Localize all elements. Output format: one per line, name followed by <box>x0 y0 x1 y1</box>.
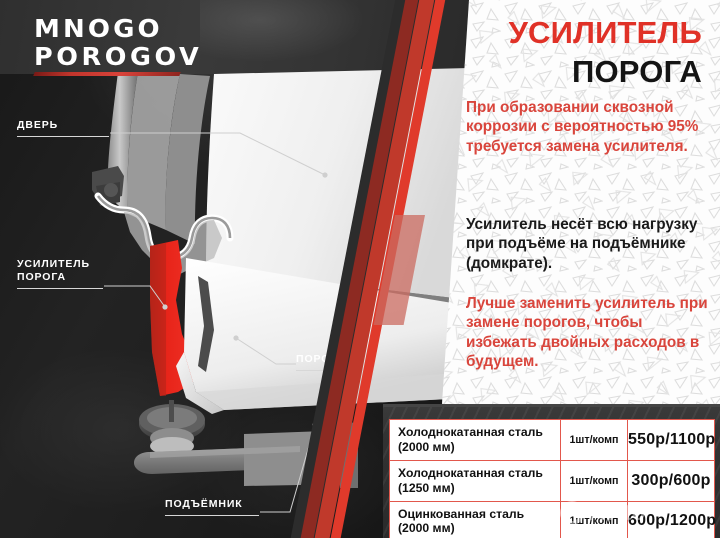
callout-door-rule <box>17 136 109 137</box>
brand-logo: MNOGO POROGOV <box>34 16 199 76</box>
promo-banner: ДВЕРЬ УСИЛИТЕЛЬ ПОРОГА ПОРОГ ПОДЪЁМНИК M… <box>0 0 720 538</box>
product-name-line1: Холоднокатанная сталь <box>398 425 553 440</box>
table-cell-qty: 1шт/комп <box>561 502 628 538</box>
table-cell-qty: 1шт/комп <box>561 461 628 501</box>
price-table: Холоднокатанная сталь (2000 мм) 1шт/комп… <box>389 419 715 538</box>
table-cell-name: Холоднокатанная сталь (2000 мм) <box>390 420 561 460</box>
table-row[interactable]: Оцинкованная сталь (2000 мм) 1шт/комп 60… <box>390 502 714 538</box>
table-cell-price: 550р/1100р <box>628 420 715 460</box>
table-cell-name: Холоднокатанная сталь (1250 мм) <box>390 461 561 501</box>
brand-logo-line1: MNOGO <box>34 16 206 41</box>
product-name-line2: (1250 мм) <box>398 481 553 496</box>
table-cell-price: 600р/1200р <box>628 502 716 538</box>
callout-lift-rule <box>165 515 259 516</box>
paragraph-load: Усилитель несёт всю нагрузку при подъёме… <box>466 215 712 273</box>
callout-amplifier: УСИЛИТЕЛЬ ПОРОГА <box>17 258 99 289</box>
table-cell-price: 300р/600р <box>628 461 714 501</box>
table-row[interactable]: Холоднокатанная сталь (2000 мм) 1шт/комп… <box>390 420 714 461</box>
product-name-line1: Оцинкованная сталь <box>398 507 553 522</box>
callout-door-label: ДВЕРЬ <box>17 119 109 132</box>
callout-amplifier-label-1: УСИЛИТЕЛЬ <box>17 258 99 271</box>
table-cell-qty: 1шт/комп <box>561 420 628 460</box>
callout-amplifier-label-2: ПОРОГА <box>17 271 99 284</box>
callout-lift-label: ПОДЪЁМНИК <box>165 498 259 511</box>
brand-logo-line2: POROGOV <box>34 44 202 69</box>
callout-lift: ПОДЪЁМНИК <box>165 498 259 516</box>
door-panel <box>206 68 470 300</box>
product-name-line2: (2000 мм) <box>398 521 553 536</box>
page-title: УСИЛИТЕЛЬ ПОРОГА <box>509 17 702 87</box>
table-cell-name: Оцинкованная сталь (2000 мм) <box>390 502 561 538</box>
page-title-line1: УСИЛИТЕЛЬ <box>509 17 702 48</box>
paragraph-advice: Лучше заменить усилитель при замене поро… <box>466 294 712 371</box>
product-name-line1: Холоднокатанная сталь <box>398 466 553 481</box>
paragraph-corrosion: При образовании сквозной коррозии с веро… <box>466 98 712 156</box>
brand-logo-underline <box>33 72 181 76</box>
table-row[interactable]: Холоднокатанная сталь (1250 мм) 1шт/комп… <box>390 461 714 502</box>
callout-amplifier-rule <box>17 288 103 289</box>
page-title-line2: ПОРОГА <box>509 56 702 87</box>
callout-door: ДВЕРЬ <box>17 119 109 137</box>
bottom-band-edge <box>383 404 720 407</box>
product-name-line2: (2000 мм) <box>398 440 553 455</box>
